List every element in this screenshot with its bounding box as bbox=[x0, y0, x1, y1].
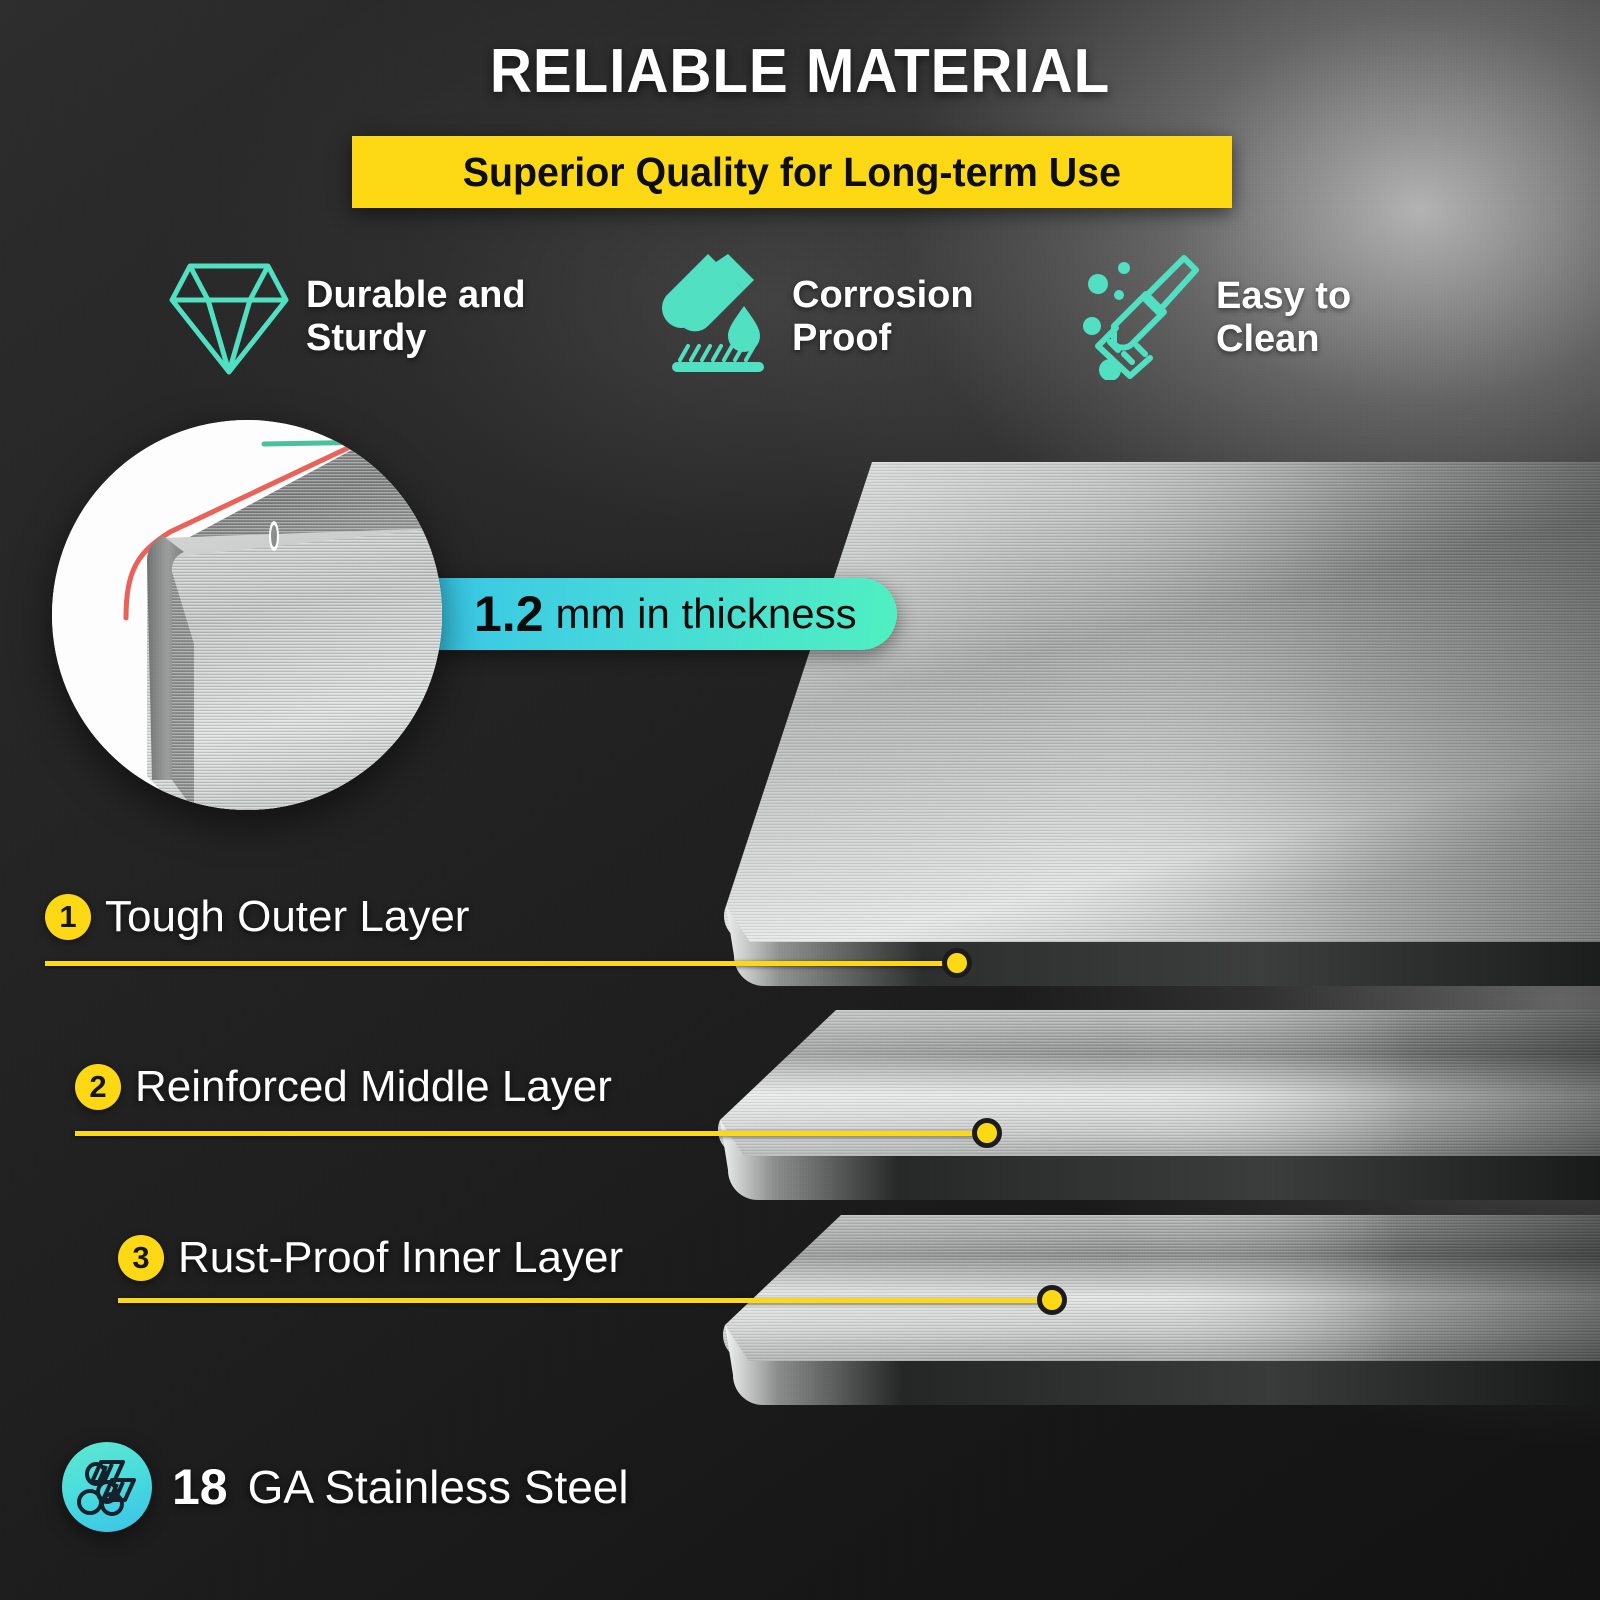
layer-number-badge: 2 bbox=[75, 1064, 121, 1110]
layer-label: Rust-Proof Inner Layer bbox=[178, 1233, 623, 1283]
magnified-edge-detail bbox=[52, 420, 442, 810]
feature-label: Easy to Clean bbox=[1216, 275, 1351, 360]
cleaning-brush-icon bbox=[1080, 250, 1200, 385]
subtitle-banner: Superior Quality for Long-term Use bbox=[352, 136, 1232, 208]
feature-label: Durable and Sturdy bbox=[306, 274, 526, 359]
callout-layer-1: 1 Tough Outer Layer bbox=[45, 892, 469, 942]
gauge-value: 18 bbox=[172, 1458, 228, 1516]
steel-sheet-top bbox=[690, 462, 1600, 1007]
leader-dot-2 bbox=[972, 1118, 1002, 1148]
feature-easy-to-clean: Easy to Clean bbox=[1080, 250, 1351, 385]
layer-label: Tough Outer Layer bbox=[105, 892, 469, 942]
layer-number-badge: 3 bbox=[118, 1235, 164, 1281]
page-title: RELIABLE MATERIAL bbox=[48, 36, 1552, 107]
steel-sheet-middle bbox=[700, 1010, 1600, 1210]
thickness-value: 1.2 bbox=[474, 585, 544, 643]
feature-durable-sturdy: Durable and Sturdy bbox=[168, 250, 526, 383]
feature-row: Durable and Sturdy bbox=[150, 248, 1490, 383]
infographic-canvas: RELIABLE MATERIAL Superior Quality for L… bbox=[0, 0, 1600, 1600]
feature-corrosion-proof: Corrosion Proof bbox=[658, 250, 974, 383]
steel-sheet-bottom bbox=[705, 1215, 1600, 1415]
steel-sheet-bottom-svg bbox=[705, 1215, 1600, 1415]
steel-sheet-top-svg bbox=[690, 462, 1600, 1007]
layer-label: Reinforced Middle Layer bbox=[135, 1062, 612, 1112]
steel-tubes-icon bbox=[62, 1442, 152, 1532]
leader-line-2 bbox=[75, 1131, 985, 1136]
leader-line-3 bbox=[118, 1298, 1048, 1303]
layer-number-badge: 1 bbox=[45, 894, 91, 940]
callout-layer-2: 2 Reinforced Middle Layer bbox=[75, 1062, 612, 1112]
thickness-callout: 1.2 mm in thickness bbox=[430, 578, 897, 650]
feature-label: Corrosion Proof bbox=[792, 274, 974, 359]
leader-dot-1 bbox=[942, 948, 972, 978]
leader-dot-3 bbox=[1037, 1285, 1067, 1315]
callout-layer-3: 3 Rust-Proof Inner Layer bbox=[118, 1233, 623, 1283]
diamond-icon bbox=[168, 250, 290, 383]
gauge-badge: 18 GA Stainless Steel bbox=[62, 1442, 629, 1532]
thickness-unit: mm in thickness bbox=[556, 590, 857, 638]
subtitle-text: Superior Quality for Long-term Use bbox=[463, 149, 1121, 196]
test-tube-drop-icon bbox=[658, 250, 776, 383]
leader-line-1 bbox=[45, 961, 960, 966]
steel-sheet-middle-svg bbox=[700, 1010, 1600, 1210]
gauge-label: GA Stainless Steel bbox=[248, 1460, 629, 1514]
magnifier-content bbox=[52, 420, 442, 810]
